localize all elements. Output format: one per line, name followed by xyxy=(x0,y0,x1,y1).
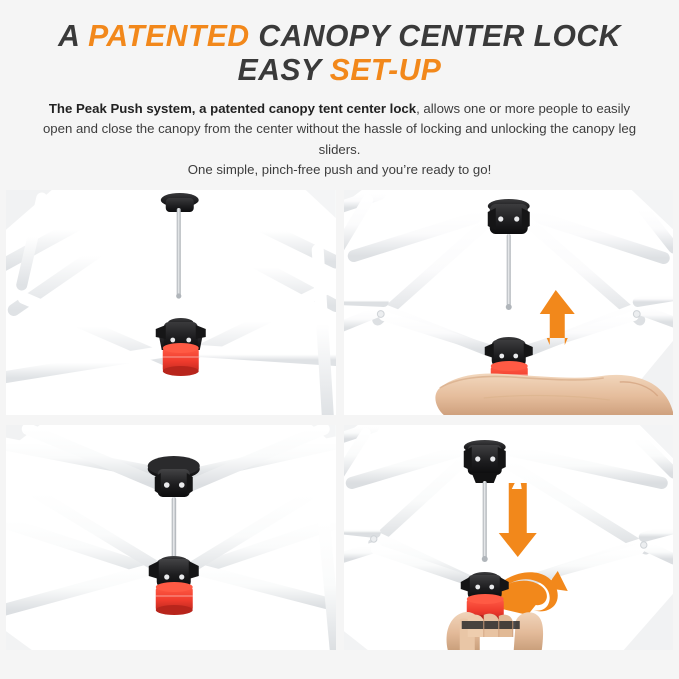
description-lead-bold: The Peak Push system, a patented canopy … xyxy=(49,101,416,116)
center-rod xyxy=(506,234,510,306)
center-rod xyxy=(177,208,181,296)
hand-pushing-lock-up-illustration xyxy=(344,190,674,415)
panel-top-right xyxy=(344,190,674,415)
headline-accent-patented: PATENTED xyxy=(88,18,249,53)
panel-grid xyxy=(0,190,679,650)
center-rod xyxy=(172,497,176,559)
headline-text-a: A xyxy=(58,18,88,53)
headline-accent-setup: SET-UP xyxy=(330,52,442,87)
headline-block: A PATENTED CANOPY CENTER LOCK EASY SET-U… xyxy=(0,0,679,85)
panel-bottom-left xyxy=(6,425,336,650)
hand-open-palm xyxy=(435,374,673,415)
hands-releasing-lock-down-illustration xyxy=(344,425,674,650)
peak-hub-top xyxy=(487,199,529,234)
headline-line-2: EASY SET-UP xyxy=(10,54,669,85)
description-closing: One simple, pinch-free push and you’re r… xyxy=(188,162,492,177)
center-rod xyxy=(482,481,486,559)
canopy-frame-open-locked-illustration xyxy=(6,425,336,650)
peak-push-infographic: A PATENTED CANOPY CENTER LOCK EASY SET-U… xyxy=(0,0,679,679)
canopy-frame-closed-illustration xyxy=(6,190,336,415)
description-paragraph: The Peak Push system, a patented canopy … xyxy=(40,99,640,181)
peak-hub-top xyxy=(148,456,200,497)
panel-top-left xyxy=(6,190,336,415)
headline-line-1: A PATENTED CANOPY CENTER LOCK xyxy=(10,20,669,51)
center-lock-assembly xyxy=(156,318,206,376)
headline-text-canopy-center-lock: CANOPY CENTER LOCK xyxy=(250,18,621,53)
headline-text-easy: EASY xyxy=(238,52,330,87)
panel-bottom-right xyxy=(344,425,674,650)
